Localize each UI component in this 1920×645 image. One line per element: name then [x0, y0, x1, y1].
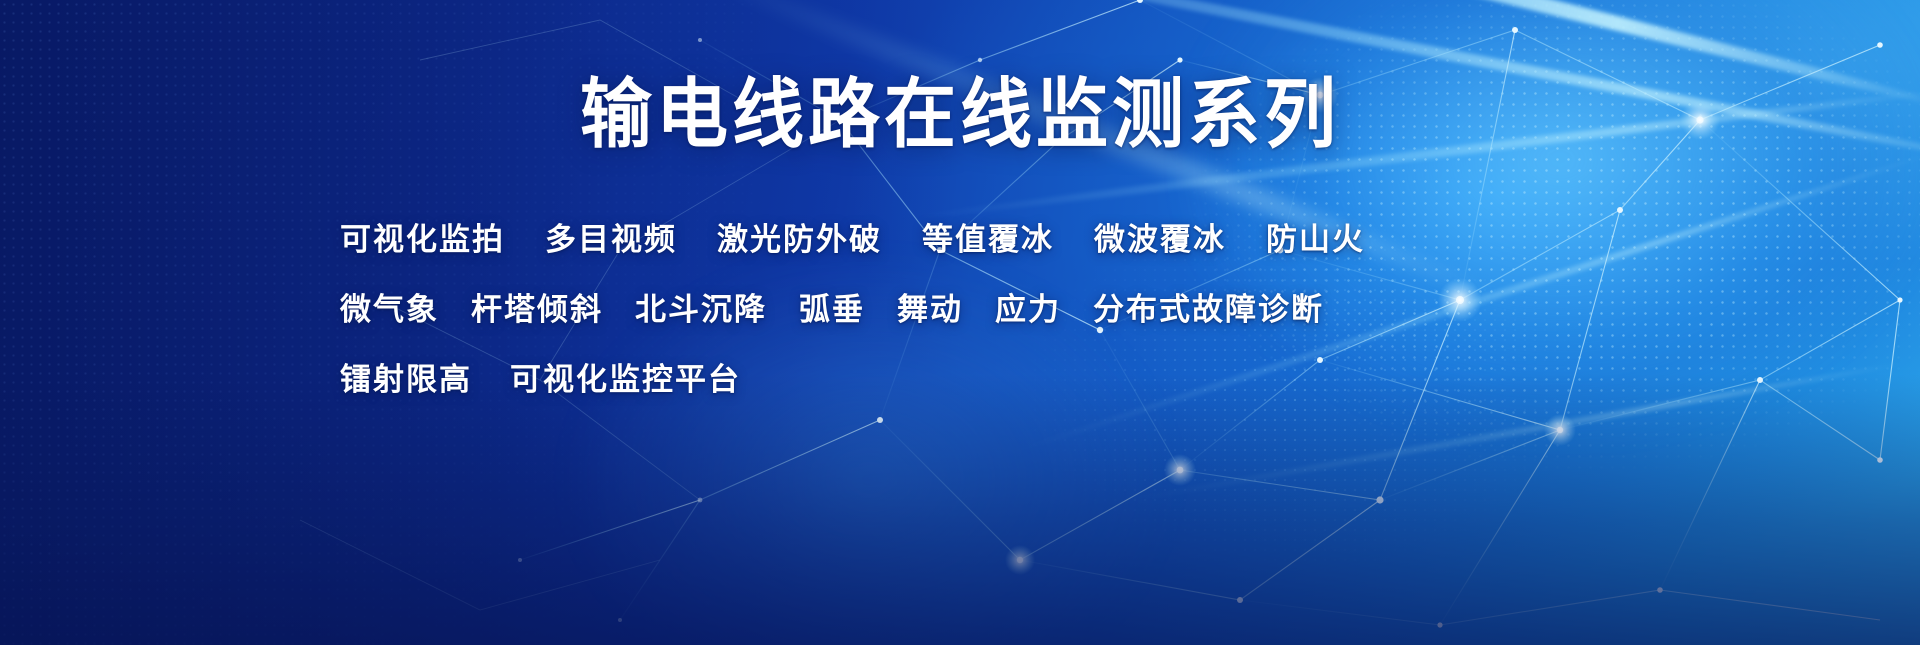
feature-item-microwave-icing[interactable]: 微波覆冰 — [1094, 225, 1226, 256]
feature-item-tower-tilt[interactable]: 杆塔倾斜 — [471, 295, 603, 326]
page-title: 输电线路在线监测系列 — [0, 76, 1920, 152]
feature-item-laser-height-limit[interactable]: 镭射限高 — [340, 365, 472, 396]
feature-list: 可视化监拍 多目视频 激光防外破 等值覆冰 微波覆冰 防山火 微气象 杆塔倾斜 … — [340, 205, 1280, 415]
feature-item-distributed-fault-diag[interactable]: 分布式故障诊断 — [1093, 295, 1324, 326]
banner-content: 输电线路在线监测系列 可视化监拍 多目视频 激光防外破 等值覆冰 微波覆冰 防山… — [0, 0, 1920, 645]
promo-banner: 输电线路在线监测系列 可视化监拍 多目视频 激光防外破 等值覆冰 微波覆冰 防山… — [0, 0, 1920, 645]
feature-row-2: 微气象 杆塔倾斜 北斗沉降 弧垂 舞动 应力 分布式故障诊断 — [340, 275, 1280, 345]
feature-item-beidou-settlement[interactable]: 北斗沉降 — [635, 295, 767, 326]
feature-item-wildfire-prevention[interactable]: 防山火 — [1266, 225, 1365, 256]
feature-row-3: 镭射限高 可视化监控平台 — [340, 345, 1280, 415]
feature-item-laser-anti-damage[interactable]: 激光防外破 — [717, 225, 882, 256]
feature-item-galloping[interactable]: 舞动 — [897, 295, 963, 326]
feature-item-micro-meteorology[interactable]: 微气象 — [340, 295, 439, 326]
feature-item-visual-monitor-platform[interactable]: 可视化监控平台 — [510, 365, 741, 396]
feature-item-sag[interactable]: 弧垂 — [799, 295, 865, 326]
feature-row-1: 可视化监拍 多目视频 激光防外破 等值覆冰 微波覆冰 防山火 — [340, 205, 1280, 275]
feature-item-visual-monitoring[interactable]: 可视化监拍 — [340, 225, 505, 256]
feature-item-stress[interactable]: 应力 — [995, 295, 1061, 326]
feature-item-multi-camera-video[interactable]: 多目视频 — [545, 225, 677, 256]
feature-item-equivalent-icing[interactable]: 等值覆冰 — [922, 225, 1054, 256]
